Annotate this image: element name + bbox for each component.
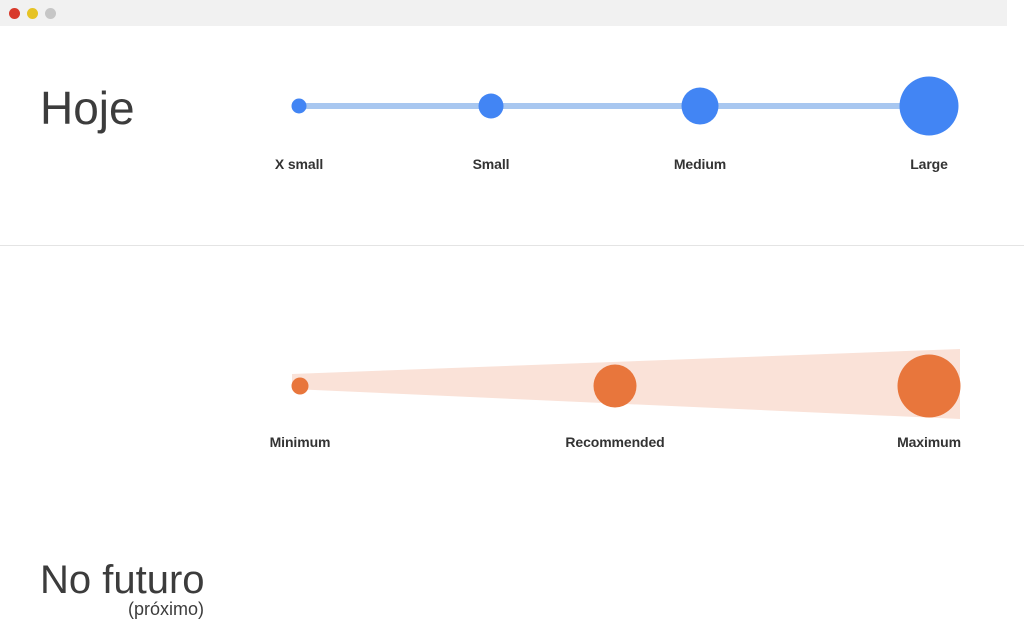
zoom-button[interactable] <box>45 8 56 19</box>
node-maximum[interactable] <box>898 355 961 418</box>
node-label-large: Large <box>910 156 948 172</box>
node-large[interactable] <box>900 77 959 136</box>
window-titlebar <box>0 0 1007 27</box>
section-today: Hoje X small Small Medium Large <box>0 26 1024 245</box>
today-track-line <box>299 103 929 109</box>
section-future: No futuro (próximo) Minimum Recommended … <box>0 246 1024 492</box>
section-future-subtitle: (próximo) <box>128 599 204 620</box>
node-label-recommended: Recommended <box>565 434 664 450</box>
node-label-minimum: Minimum <box>270 434 331 450</box>
node-label-maximum: Maximum <box>897 434 961 450</box>
traffic-light-group <box>9 8 56 19</box>
today-scale-area: X small Small Medium Large <box>0 26 1024 245</box>
diagram-canvas: Hoje X small Small Medium Large No futur… <box>0 26 1024 492</box>
node-minimum[interactable] <box>292 378 309 395</box>
node-label-medium: Medium <box>674 156 726 172</box>
future-scale-area: Minimum Recommended Maximum <box>0 246 1024 492</box>
node-recommended[interactable] <box>594 365 637 408</box>
node-label-small: Small <box>473 156 510 172</box>
close-button[interactable] <box>9 8 20 19</box>
node-x-small[interactable] <box>292 99 307 114</box>
minimize-button[interactable] <box>27 8 38 19</box>
node-small[interactable] <box>479 94 504 119</box>
node-medium[interactable] <box>682 88 719 125</box>
section-future-title: No futuro <box>40 558 205 603</box>
node-label-x-small: X small <box>275 156 323 172</box>
